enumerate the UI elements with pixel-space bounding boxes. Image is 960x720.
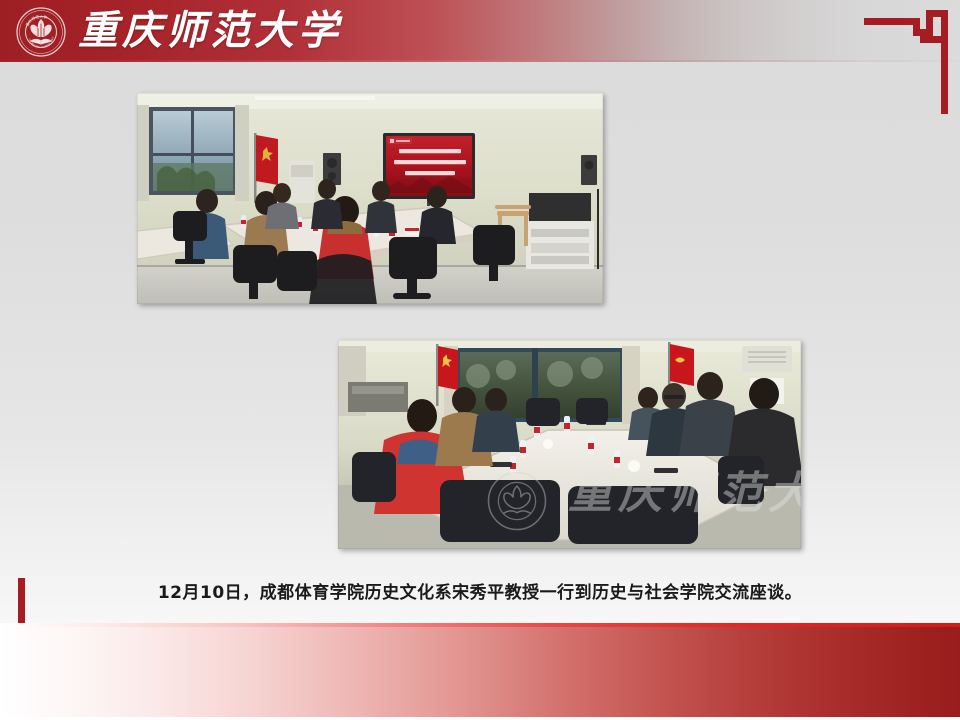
footer-gradient-band (0, 627, 960, 718)
university-seal-icon: 重庆师范大学 CHONGQING NORMAL UNIV (16, 7, 66, 57)
svg-text:重庆师范大学: 重庆师范大学 (568, 468, 801, 519)
slide-canvas: 重庆师范大学 CHONGQING NORMAL UNIV 重庆师范大学 (0, 0, 960, 720)
university-name: 重庆师范大学 (78, 2, 342, 60)
svg-text:重庆师范大学: 重庆师范大学 (24, 14, 48, 27)
meeting-photo-conference-room-with-screen (137, 93, 603, 304)
meeting-photo-round-table-discussion: 重庆师范大学 (338, 340, 801, 549)
slide-caption: 12月10日，成都体育学院历史文化系宋秀平教授一行到历史与社会学院交流座谈。 (0, 578, 960, 603)
chinese-corner-ornament-icon-top-right (864, 10, 950, 114)
